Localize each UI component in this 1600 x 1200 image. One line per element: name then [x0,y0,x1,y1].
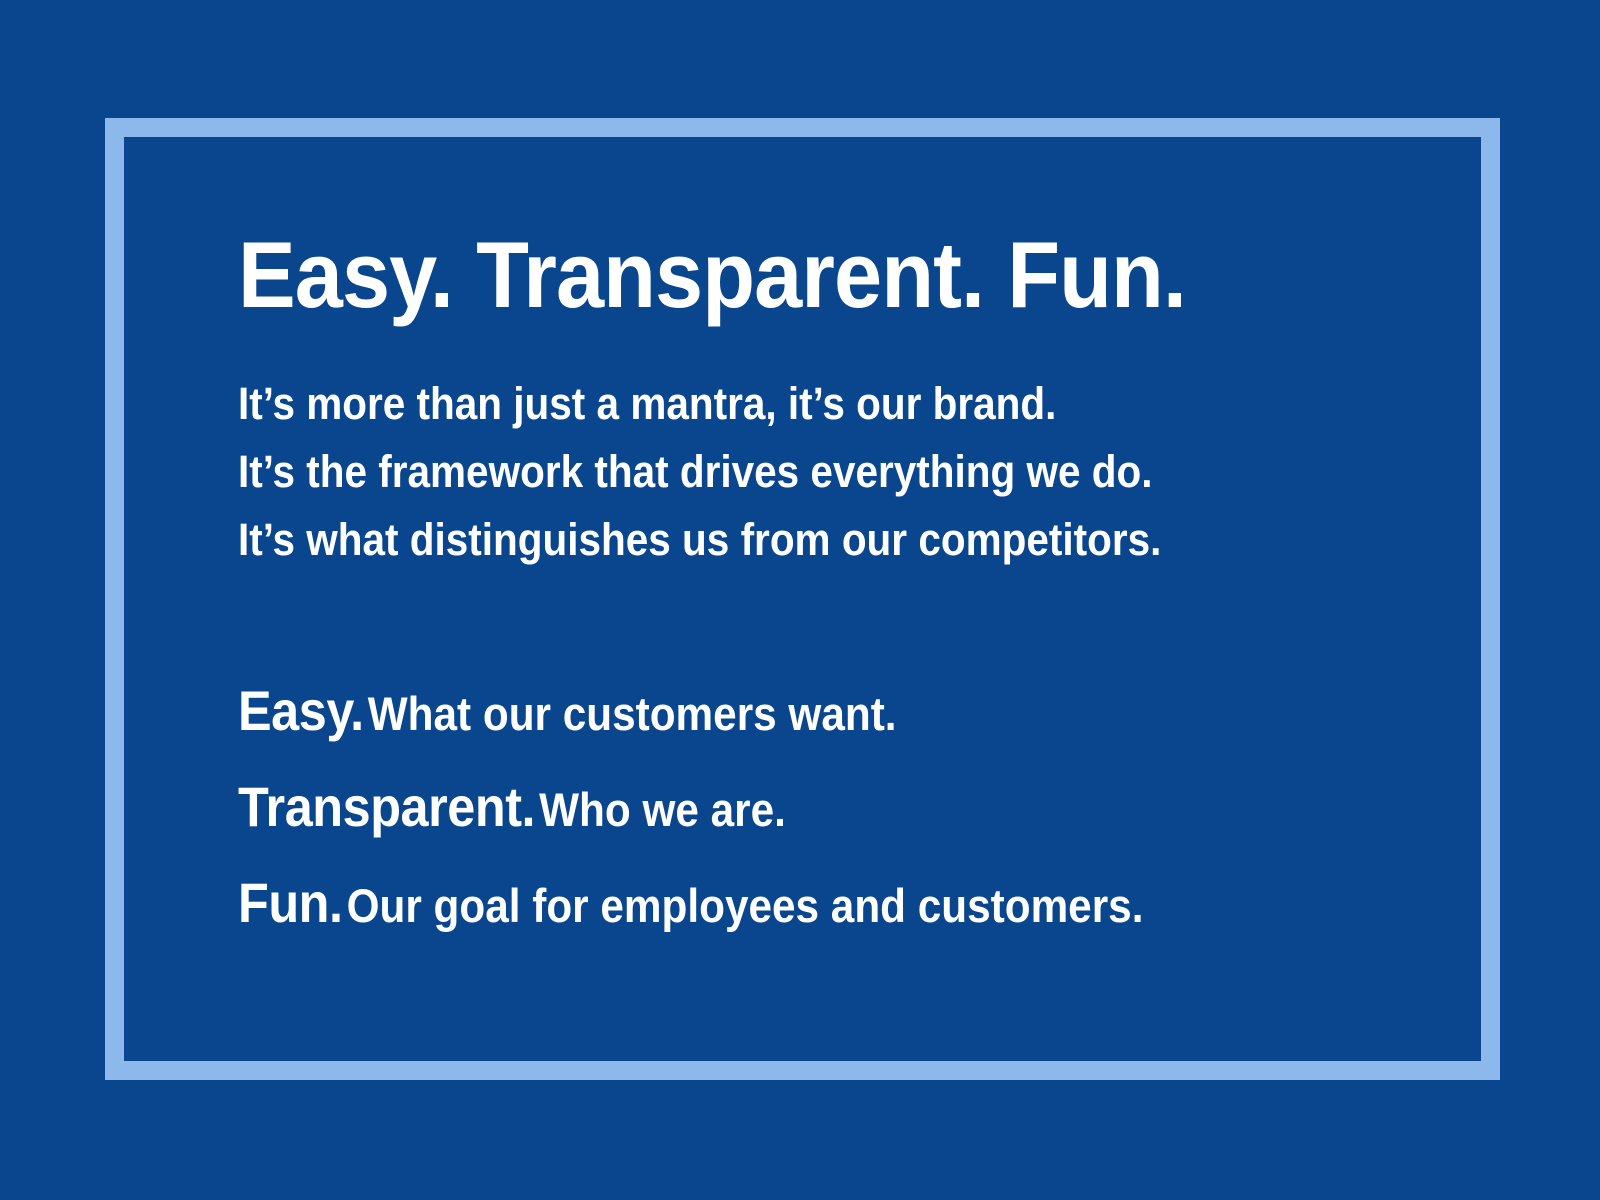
slide-canvas: Easy. Transparent. Fun. It’s more than j… [0,0,1600,1200]
definitions-list: Easy. What our customers want. Transpare… [238,670,1398,958]
definition-item-transparent: Transparent. Who we are. [238,766,1282,862]
intro-paragraph: It’s more than just a mantra, it’s our b… [238,370,1398,574]
page-title: Easy. Transparent. Fun. [238,228,1305,322]
definition-item-easy: Easy. What our customers want. [238,670,1282,766]
block-spacer [238,574,1398,670]
slide-content: Easy. Transparent. Fun. It’s more than j… [238,228,1398,958]
definition-description-easy: What our customers want. [368,687,897,740]
definition-term-transparent: Transparent. [238,775,535,838]
definition-description-fun: Our goal for employees and customers. [347,879,1144,932]
paragraph-line-1: It’s more than just a mantra, it’s our b… [238,370,1282,438]
paragraph-line-3: It’s what distinguishes us from our comp… [238,506,1282,574]
paragraph-line-2: It’s the framework that drives everythin… [238,438,1282,506]
definition-item-fun: Fun. Our goal for employees and customer… [238,862,1282,958]
definition-term-fun: Fun. [238,871,343,934]
definition-description-transparent: Who we are. [539,783,786,836]
definition-term-easy: Easy. [238,679,364,742]
